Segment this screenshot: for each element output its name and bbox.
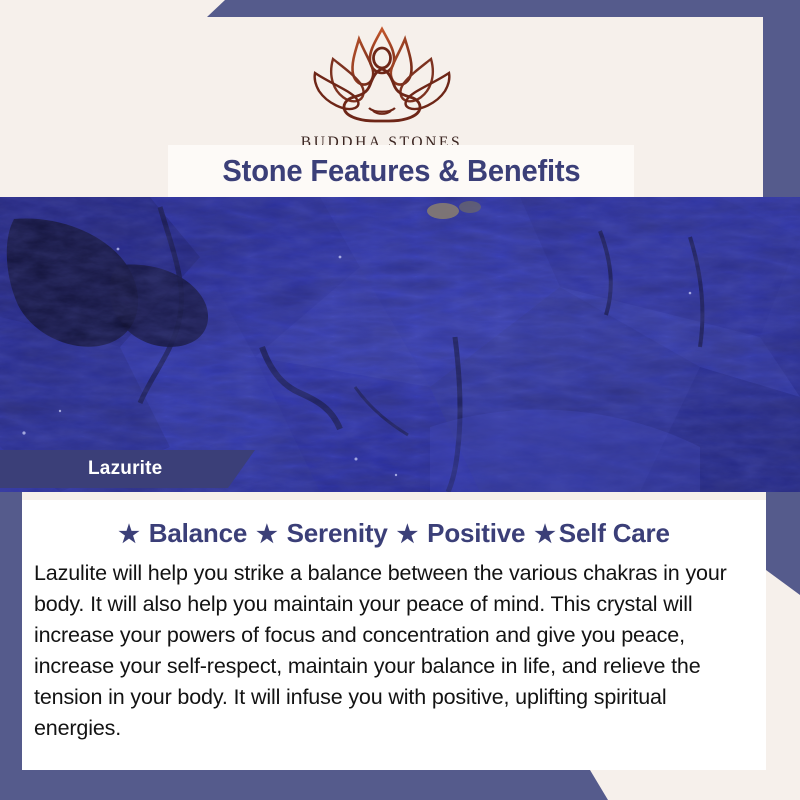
star-icon: ★ [256, 521, 278, 548]
brand-logo: BUDDHA STONES [0, 25, 763, 152]
lazurite-stone-photo [0, 197, 800, 492]
benefit-self-care: Self Care [559, 518, 670, 548]
benefit-serenity: Serenity [287, 518, 388, 548]
benefits-list: ★Balance★Serenity★Positive★Self Care [22, 518, 766, 549]
star-icon: ★ [397, 521, 419, 548]
lotus-meditation-icon [0, 25, 763, 132]
bottom-accent-band [0, 770, 800, 800]
title-plaque: Stone Features & Benefits [168, 145, 634, 197]
top-accent-band [0, 0, 800, 17]
page-title: Stone Features & Benefits [222, 153, 580, 189]
content-card: ★Balance★Serenity★Positive★Self Care Laz… [22, 492, 766, 770]
stone-name-label: Lazurite [88, 458, 162, 480]
left-accent-rail-bottom [0, 492, 22, 800]
right-accent-rail-bottom [766, 492, 800, 595]
benefit-positive: Positive [427, 518, 525, 548]
poster-root: BUDDHA STONES Stone Features & Benefits [0, 0, 800, 800]
star-icon: ★ [534, 521, 556, 548]
stone-description: Lazulite will help you strike a balance … [34, 558, 752, 744]
card-top-strip [22, 492, 766, 500]
right-accent-rail-top [763, 17, 800, 197]
benefit-balance: Balance [149, 518, 247, 548]
stone-name-tab: Lazurite [0, 450, 255, 488]
star-icon: ★ [118, 521, 140, 548]
